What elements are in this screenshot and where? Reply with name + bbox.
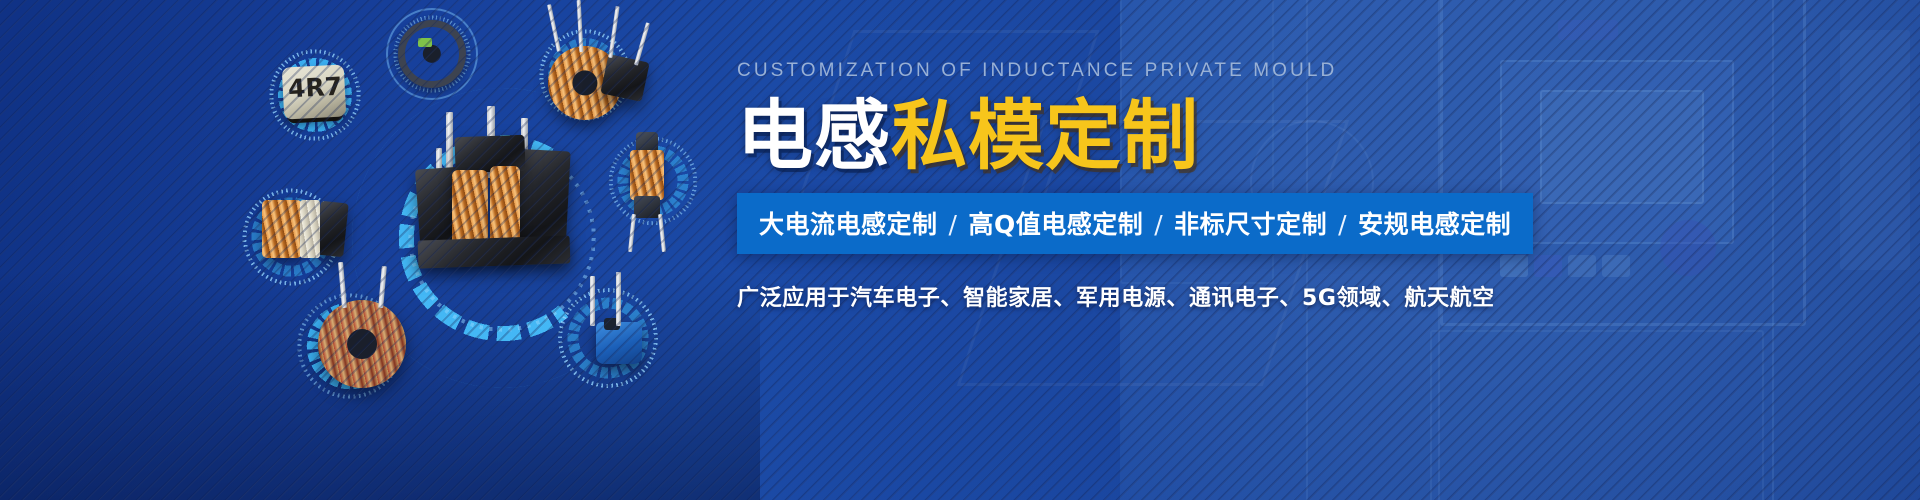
feature-bar: 大电流电感定制/高Q值电感定制/非标尺寸定制/安规电感定制 xyxy=(737,193,1533,254)
english-subtitle: CUSTOMIZATION OF INDUCTANCE PRIVATE MOUL… xyxy=(737,60,1857,82)
choke-black-base xyxy=(600,54,649,102)
background-machine-shape xyxy=(1558,20,1618,40)
feature-separator: / xyxy=(1143,210,1174,239)
coil-copper-winding xyxy=(262,200,302,258)
feature-item-1: 大电流电感定制 xyxy=(759,210,938,239)
promo-banner: 4R7 xyxy=(0,0,1920,500)
coil-marker xyxy=(418,38,432,47)
radial-lead-wire xyxy=(616,272,621,326)
title-gold-part: 私模定制 xyxy=(891,91,1199,180)
page-title: 电感私模定制 xyxy=(737,93,1857,179)
choke-base-plate xyxy=(418,235,571,268)
radial-lead-wire xyxy=(590,276,595,326)
feature-item-2: 高Q值电感定制 xyxy=(968,210,1143,239)
smd-inductor-marking: 4R7 xyxy=(287,69,343,106)
feature-item-3: 非标尺寸定制 xyxy=(1174,210,1327,239)
coil-ring xyxy=(398,20,466,88)
application-line: 广泛应用于汽车电子、智能家居、军用电源、通讯电子、5G领域、航天航空 xyxy=(737,280,1857,312)
background-machine-shape xyxy=(1430,330,1764,500)
feature-separator: / xyxy=(938,210,969,239)
coil-wire-insulation xyxy=(300,200,320,258)
rod-core-bottom xyxy=(634,196,660,218)
toroid-red-winding xyxy=(318,300,406,388)
banner-text-block: CUSTOMIZATION OF INDUCTANCE PRIVATE MOUL… xyxy=(737,60,1857,312)
title-white-part: 电感 xyxy=(737,91,891,180)
rod-copper-winding xyxy=(630,150,664,200)
feature-separator: / xyxy=(1327,210,1358,239)
coil-black-end xyxy=(315,201,348,258)
feature-item-4: 安规电感定制 xyxy=(1358,210,1511,239)
